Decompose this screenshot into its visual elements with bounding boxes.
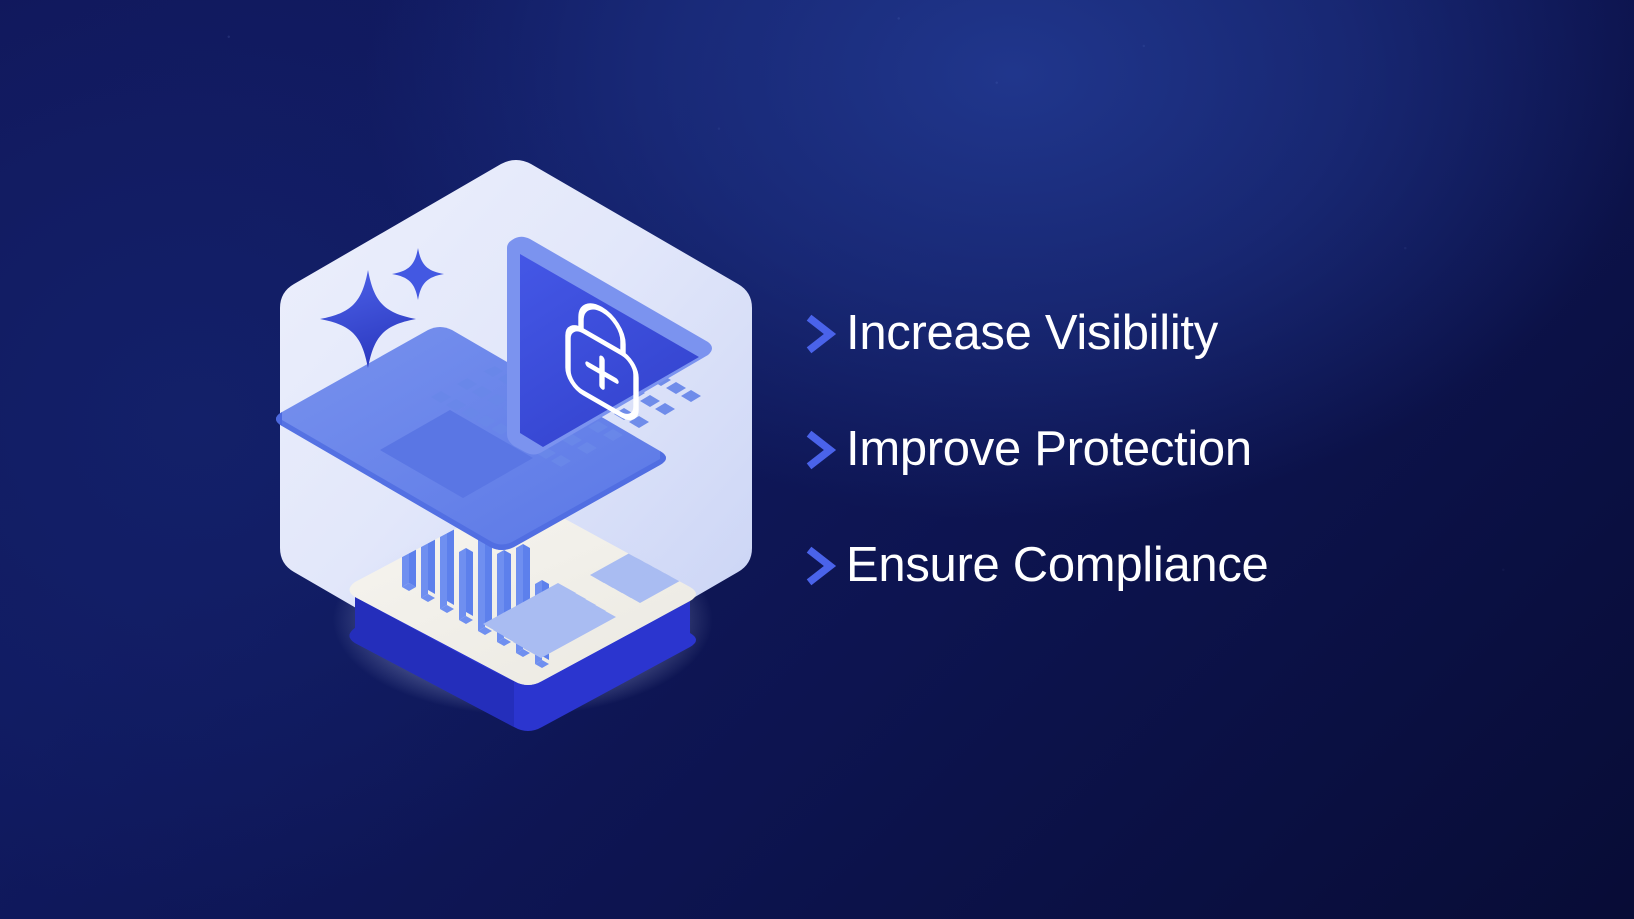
list-item: Improve Protection bbox=[806, 392, 1426, 508]
list-item-label: Ensure Compliance bbox=[846, 540, 1269, 591]
chart-bar bbox=[459, 548, 473, 624]
slide-canvas: Increase Visibility Improve Protection E… bbox=[0, 0, 1634, 919]
list-item-label: Increase Visibility bbox=[846, 308, 1218, 359]
list-item-label: Improve Protection bbox=[846, 424, 1252, 475]
list-item: Increase Visibility bbox=[806, 276, 1426, 392]
chevron-right-icon bbox=[806, 546, 846, 586]
security-illustration bbox=[258, 150, 778, 740]
chevron-right-icon bbox=[806, 430, 846, 470]
benefits-list: Increase Visibility Improve Protection E… bbox=[806, 276, 1426, 624]
list-item: Ensure Compliance bbox=[806, 508, 1426, 624]
chevron-right-icon bbox=[806, 314, 846, 354]
